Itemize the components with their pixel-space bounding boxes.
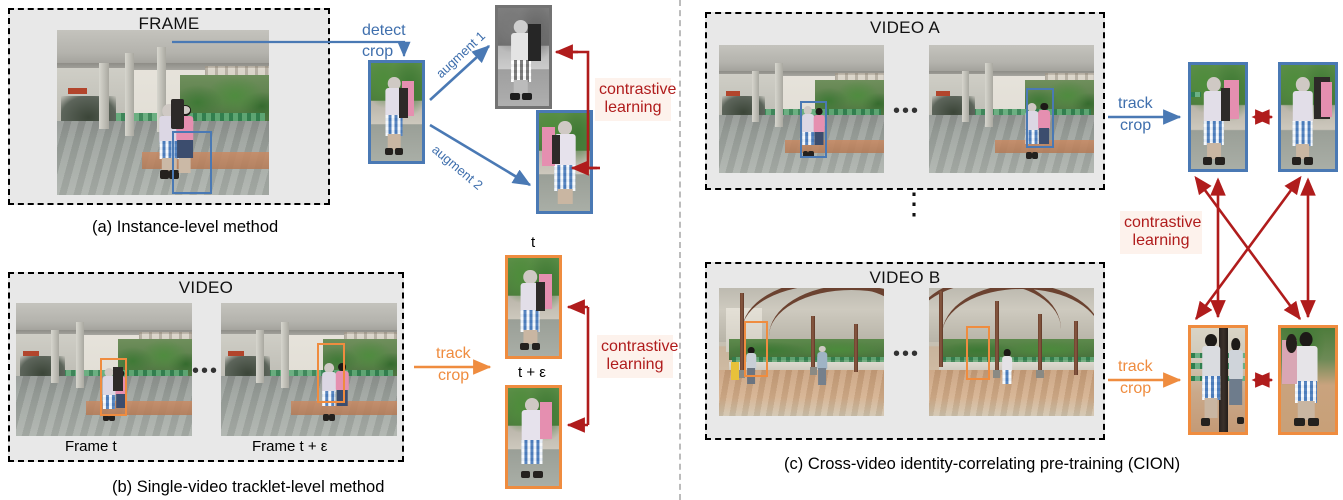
panel-b-contrastive-line2: learning: [607, 356, 664, 373]
panel-a-detect-text: detect: [362, 22, 406, 39]
panel-divider: [679, 0, 681, 500]
panel-b-contrastive-label: contrastive learning: [597, 335, 673, 378]
panel-c-video-a-ellipsis: •••: [893, 100, 920, 123]
panel-a-augment1-label: augment 1: [433, 28, 488, 81]
panel-b-frames-ellipsis: •••: [192, 360, 219, 383]
panel-b-frame-t-label: Frame t: [65, 438, 117, 455]
panel-c-video-b-bbox-2: [966, 326, 990, 380]
panel-b-crop-t: [505, 255, 562, 359]
panel-a-caption: (a) Instance-level method: [92, 218, 278, 237]
panel-c-crop-b-label: crop: [1120, 380, 1151, 398]
panel-c-video-b-crop-2: [1278, 325, 1338, 435]
panel-c-video-b-bbox-1: [744, 321, 768, 377]
panel-c-video-a-crop-1: [1188, 62, 1248, 172]
panel-b-track-text: track: [436, 345, 471, 362]
panel-b-crop-t-label: t: [531, 234, 535, 251]
panel-c-arrow-a2-b1: [1196, 178, 1300, 319]
panel-c-track-a-label: track: [1118, 95, 1153, 113]
panel-a-contrastive-label: contrastive learning: [595, 78, 671, 121]
panel-c-video-b-title: VIDEO B: [707, 268, 1103, 288]
panel-a-augment1-text: augment 1: [433, 28, 488, 81]
panel-a-frame-image: [57, 30, 269, 195]
panel-b-track-bbox-t-eps: [317, 343, 345, 403]
panel-a-augment2-crop: [536, 110, 593, 214]
panel-a-augment2-label: augment 2: [429, 142, 486, 193]
panel-c-track-a-text: track: [1118, 95, 1153, 112]
panel-c-video-b-ellipsis: •••: [893, 343, 920, 366]
panel-c-contrastive-label: contrastive learning: [1120, 211, 1202, 254]
panel-c-track-b-text: track: [1118, 358, 1153, 375]
panel-b-contrastive-connector: [568, 307, 588, 425]
panel-a-augment1-crop: [495, 5, 552, 109]
panel-b-caption: (b) Single-video tracklet-level method: [112, 478, 384, 497]
panel-a-contrastive-line2: learning: [605, 99, 662, 116]
panel-c-video-b-frame-2: [929, 288, 1094, 416]
panel-c-track-b-label: track: [1118, 358, 1153, 376]
panel-a-anchor-crop: [368, 60, 425, 164]
panel-a-crop-text: crop: [362, 43, 393, 60]
panel-c-video-a-bbox-1: [800, 101, 827, 158]
panel-b-crop-t-eps: [505, 385, 562, 489]
panel-b-track-bbox-t: [100, 358, 127, 416]
panel-c-contrastive-line2: learning: [1133, 232, 1190, 249]
panel-b-crop-text: crop: [438, 367, 469, 384]
panel-c-video-a-bbox-2: [1026, 88, 1054, 148]
panel-a-contrastive-line1: contrastive: [599, 81, 676, 98]
panel-b-box-title: VIDEO: [10, 278, 402, 298]
panel-a-detect-label: detect: [362, 22, 406, 40]
panel-c-video-b-crop-1: [1188, 325, 1248, 435]
panel-c-crop-b-text: crop: [1120, 380, 1151, 397]
panel-a-crop-label: crop: [362, 43, 393, 61]
panel-c-video-a-title: VIDEO A: [707, 18, 1103, 38]
panel-b-crop-label: crop: [438, 367, 469, 385]
panel-c-caption: (c) Cross-video identity-correlating pre…: [784, 455, 1180, 474]
panel-b-crop-t-eps-label: t + ε: [518, 364, 546, 381]
panel-c-video-a-crop-2: [1278, 62, 1338, 172]
panel-c-arrow-a1-b2: [1196, 178, 1300, 319]
panel-c-crop-a-label: crop: [1120, 117, 1151, 135]
panel-b-frame-t-eps-image: [221, 303, 397, 436]
panel-c-video-a-frame-2: [929, 45, 1094, 173]
panel-b-frame-t-eps-label: Frame t + ε: [252, 438, 327, 455]
panel-a-detection-bbox: [172, 131, 212, 194]
panel-b-contrastive-line1: contrastive: [601, 338, 678, 355]
panel-b-track-label: track: [436, 345, 471, 363]
panel-c-crop-a-text: crop: [1120, 117, 1151, 134]
panel-c-videos-vertical-ellipsis: ⋮: [899, 196, 929, 214]
panel-a-augment2-text: augment 2: [429, 142, 486, 193]
panel-c-contrastive-line1: contrastive: [1124, 214, 1201, 231]
